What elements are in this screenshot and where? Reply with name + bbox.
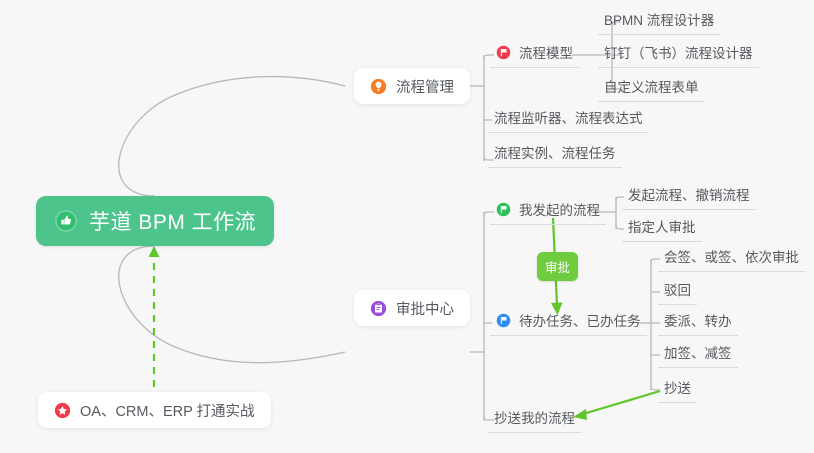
- node-start-cancel-process[interactable]: 发起流程、撤销流程: [622, 184, 756, 210]
- approval-badge: 审批: [537, 252, 578, 281]
- lightbulb-pin-icon: [370, 78, 387, 95]
- node-todo-done-tasks[interactable]: 待办任务、已办任务: [490, 310, 647, 336]
- node-label: 待办任务、已办任务: [519, 310, 641, 330]
- branch-label: 流程管理: [396, 76, 454, 97]
- node-label: 会签、或签、依次审批: [664, 246, 799, 266]
- dashed-uplink-arrow: [149, 246, 160, 400]
- node-label: 加签、减签: [664, 342, 732, 362]
- node-delegate-transfer[interactable]: 委派、转办: [658, 310, 738, 336]
- node-countersign[interactable]: 会签、或签、依次审批: [658, 246, 805, 272]
- star-icon: [54, 402, 71, 419]
- node-custom-process-form[interactable]: 自定义流程表单: [598, 76, 705, 102]
- flag-icon: [496, 45, 511, 60]
- node-label: 发起流程、撤销流程: [628, 184, 750, 204]
- thumbs-up-icon: [54, 209, 78, 233]
- branch-node-process-management[interactable]: 流程管理: [354, 68, 470, 104]
- flag-icon: [496, 202, 511, 217]
- node-label: 我发起的流程: [519, 199, 600, 219]
- root-label: 芋道 BPM 工作流: [89, 206, 256, 236]
- approval-badge-label: 审批: [545, 261, 570, 275]
- node-label: 抄送: [664, 377, 691, 397]
- flag-icon: [496, 313, 511, 328]
- branch-node-approval-center[interactable]: 审批中心: [354, 290, 470, 326]
- node-label: 流程实例、流程任务: [494, 142, 616, 162]
- node-cc[interactable]: 抄送: [658, 377, 697, 403]
- node-bpmn-designer[interactable]: BPMN 流程设计器: [598, 9, 720, 35]
- node-add-remove-sign[interactable]: 加签、减签: [658, 342, 738, 368]
- node-label: 流程监听器、流程表达式: [494, 107, 643, 127]
- cc-flow-arrow: [573, 391, 660, 420]
- branch-label: 审批中心: [396, 298, 454, 319]
- clipboard-icon: [370, 300, 387, 317]
- node-assignee-approval[interactable]: 指定人审批: [622, 216, 702, 242]
- node-label: 抄送我的流程: [494, 407, 575, 427]
- mindmap-canvas: 芋道 BPM 工作流 流程管理 流程模型: [0, 0, 814, 453]
- footnote-label: OA、CRM、ERP 打通实战: [80, 400, 255, 421]
- node-reject[interactable]: 驳回: [658, 279, 697, 305]
- node-label: 委派、转办: [664, 310, 732, 330]
- node-process-model[interactable]: 流程模型: [490, 42, 579, 68]
- root-node[interactable]: 芋道 BPM 工作流: [36, 196, 274, 246]
- node-label: 自定义流程表单: [604, 76, 699, 96]
- node-label: 钉钉（飞书）流程设计器: [604, 42, 753, 62]
- node-label: BPMN 流程设计器: [604, 9, 714, 29]
- footnote-node-integration[interactable]: OA、CRM、ERP 打通实战: [38, 392, 271, 428]
- node-label: 驳回: [664, 279, 691, 299]
- node-label: 流程模型: [519, 42, 573, 62]
- node-process-instance[interactable]: 流程实例、流程任务: [488, 142, 622, 168]
- node-cc-my-processes[interactable]: 抄送我的流程: [488, 407, 581, 433]
- node-dingtalk-feishu-designer[interactable]: 钉钉（飞书）流程设计器: [598, 42, 759, 68]
- node-label: 指定人审批: [628, 216, 696, 236]
- node-process-listener[interactable]: 流程监听器、流程表达式: [488, 107, 649, 133]
- node-my-initiated-processes[interactable]: 我发起的流程: [490, 199, 606, 225]
